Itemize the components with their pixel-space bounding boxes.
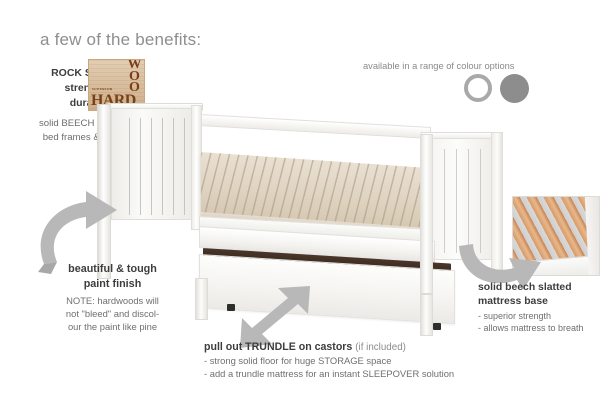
slat-title-line-1: solid beech slatted	[478, 281, 600, 295]
slat-bullet-2: - allows mattress to breath	[478, 322, 600, 334]
paint-title-line-1: beautiful & tough	[30, 262, 195, 277]
callout-paint-finish: beautiful & tough paint finish NOTE: har…	[30, 262, 195, 333]
trundle-title-optional: (if included)	[355, 342, 406, 353]
page-title: a few of the benefits:	[40, 30, 201, 50]
bed-leg-right	[420, 294, 433, 336]
bed-leg-left	[195, 278, 208, 320]
colour-swatch-white	[464, 74, 492, 102]
slat-bullets: - superior strength - allows mattress to…	[478, 310, 600, 334]
slat-title-line-2: mattress base	[478, 295, 600, 309]
paint-finish-note: NOTE: hardwoods will not "bleed" and dis…	[30, 294, 195, 333]
curved-arrow-up-right-icon	[14, 186, 124, 274]
headboard-panel	[111, 108, 199, 220]
badge-woo-text: WOO	[128, 59, 142, 94]
paint-title-line-2: paint finish	[30, 277, 195, 292]
double-headed-diagonal-arrow-icon	[222, 282, 317, 350]
bed-back-rail	[199, 114, 431, 139]
trundle-title: pull out TRUNDLE on castors (if included…	[204, 341, 504, 353]
paint-finish-title: beautiful & tough paint finish	[30, 262, 195, 291]
paint-note-line-2: not "bleed" and discol-	[30, 307, 195, 320]
callout-trundle: pull out TRUNDLE on castors (if included…	[204, 341, 504, 380]
callout-slatted-base: solid beech slatted mattress base - supe…	[478, 281, 600, 334]
trundle-title-main: pull out TRUNDLE on castors	[204, 341, 352, 353]
trundle-bullet-1: - strong solid floor for huge STORAGE sp…	[204, 355, 504, 368]
badge-superior-text: SUPERIOR	[92, 87, 113, 91]
trundle-bullets: - strong solid floor for huge STORAGE sp…	[204, 355, 504, 380]
infographic-canvas: a few of the benefits: ROCK SOLID streng…	[0, 0, 600, 400]
paint-note-line-1: NOTE: hardwoods will	[30, 294, 195, 307]
castor-wheel-right	[433, 323, 441, 330]
colour-options-label: available in a range of colour options	[363, 61, 514, 71]
slat-title: solid beech slatted mattress base	[478, 281, 600, 308]
colour-swatch-grey	[500, 74, 529, 103]
footboard-front-post	[420, 134, 433, 294]
headboard-grooves	[119, 118, 191, 215]
trundle-bullet-2: - add a trundle mattress for an instant …	[204, 368, 504, 381]
slat-bullet-1: - superior strength	[478, 310, 600, 322]
paint-note-line-3: our the paint like pine	[30, 320, 195, 333]
